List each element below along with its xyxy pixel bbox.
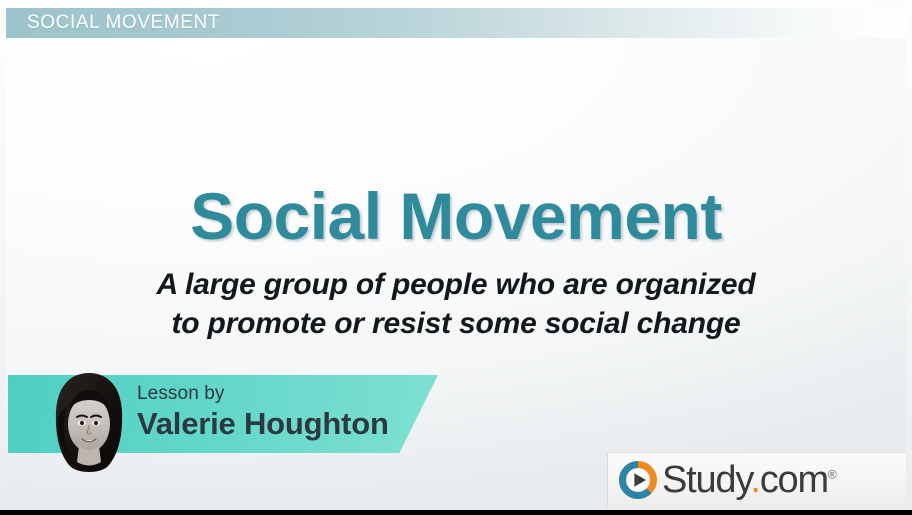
slide-header-title: SOCIAL MOVEMENT bbox=[6, 12, 220, 34]
slide-canvas: SOCIAL MOVEMENT Social Movement A large … bbox=[6, 7, 906, 507]
definition-line-1: A large group of people who are organize… bbox=[6, 265, 906, 304]
logo-word-com: com bbox=[760, 459, 828, 501]
author-prefix-label: Lesson by bbox=[137, 383, 437, 405]
lesson-title: Social Movement bbox=[6, 183, 906, 249]
logo-dot: . bbox=[750, 459, 759, 501]
video-lesson-slide: SOCIAL MOVEMENT Social Movement A large … bbox=[0, 0, 912, 515]
author-text-block: Lesson by Valerie Houghton bbox=[137, 383, 437, 442]
headline-block: Social Movement A large group of people … bbox=[6, 183, 906, 343]
lesson-definition: A large group of people who are organize… bbox=[6, 265, 906, 343]
presenter-photo-icon bbox=[50, 372, 128, 472]
play-circle-icon bbox=[618, 460, 658, 500]
studycom-wordmark: Study.com® bbox=[662, 461, 837, 499]
logo-trademark: ® bbox=[828, 467, 837, 481]
logo-word-study: Study bbox=[662, 459, 750, 501]
author-name-label: Valerie Houghton bbox=[137, 406, 437, 442]
bottom-letterbox-strip bbox=[0, 510, 912, 515]
slide-header-bar: SOCIAL MOVEMENT bbox=[6, 8, 906, 38]
studycom-logo: Study.com® bbox=[607, 452, 906, 507]
definition-line-2: to promote or resist some social change bbox=[6, 304, 906, 343]
